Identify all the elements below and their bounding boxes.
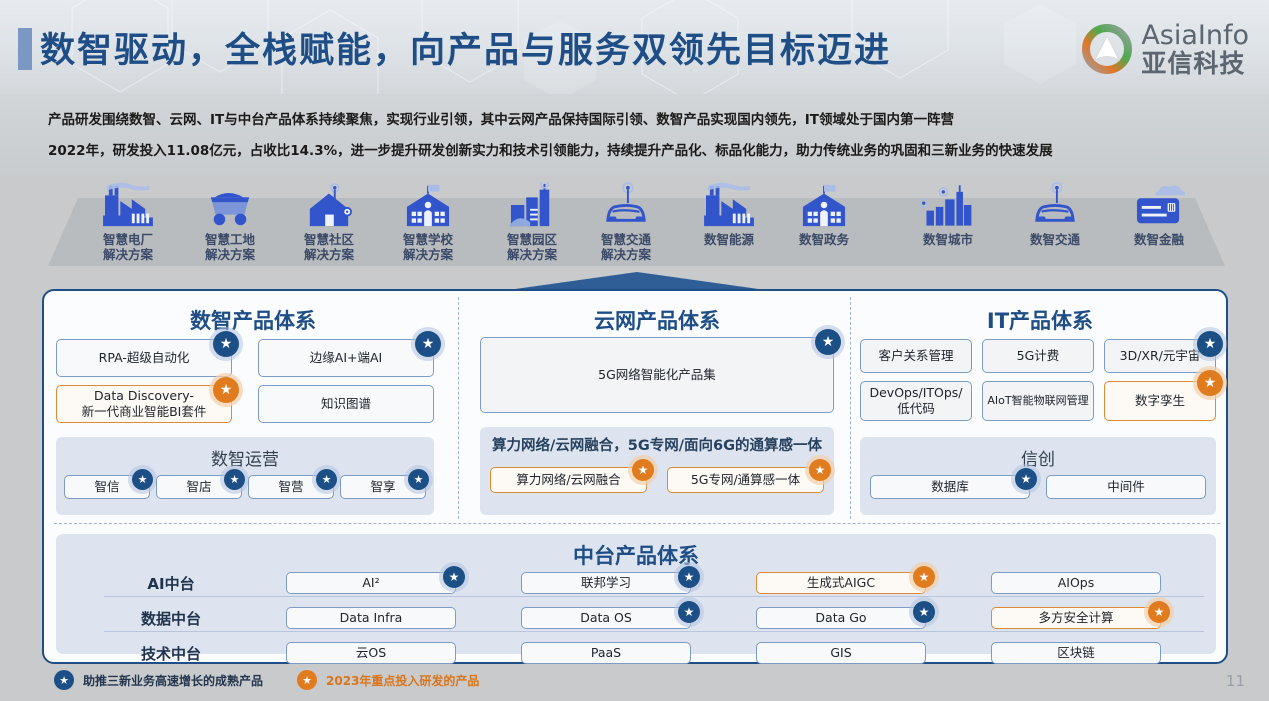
industry-item[interactable]: 数智交通 [1003,176,1107,247]
industry-label: 数智政务 [772,232,876,247]
row-label: 数据中台 [56,608,286,629]
industry-item[interactable]: 智慧园区解决方案 [480,176,584,263]
connected-car-icon [1003,176,1107,228]
product-label: DevOps/ITOps/ 低代码 [869,385,962,416]
industry-label: 智慧工地解决方案 [178,232,282,263]
cn-product-box[interactable]: 算力网络/云网融合 ★ [490,467,647,493]
connected-car-icon [574,176,678,228]
platform-product-box[interactable]: 多方安全计算 ★ [991,607,1161,629]
industry-label: 智慧交通解决方案 [574,232,678,263]
industry-item[interactable]: 智慧电厂解决方案 [76,176,180,263]
mature-product-star-icon[interactable]: ★ [213,331,239,357]
product-label: 知识图谱 [321,396,371,412]
product-label: RPA-超级自动化 [99,350,190,366]
slide-header: 数智驱动，全栈赋能，向产品与服务双领先目标迈进 AsiaInfo 亚信科技 [0,0,1269,94]
middle-platform-title: 中台产品体系 [56,540,1216,570]
school-icon [772,176,876,228]
rnd-focus-star-icon[interactable]: ★ [1197,370,1223,396]
row-separator [104,631,1204,632]
middle-platform-row: 数据中台 Data Infra Data OS ★ Data Go ★ 多方安全… [56,603,1216,633]
platform-product-label: GIS [830,645,851,661]
product-box[interactable]: 5G计费 [982,339,1094,373]
column-cloud-network: 云网产品体系 5G网络智能化产品集 ★ 算力网络/云网融合，5G专网/面向6G的… [462,291,852,523]
platform-product-label: Data Infra [340,610,403,626]
subpanel-title: 算力网络/云网融合，5G专网/面向6G的通算感一体 [480,434,834,455]
platform-product-label: 多方安全计算 [1038,610,1113,626]
cn-product-box[interactable]: 5G专网/通算感一体 ★ [667,467,824,493]
xc-product-box[interactable]: 数据库 ★ [870,475,1030,499]
mature-product-star-icon[interactable]: ★ [678,601,700,623]
product-box[interactable]: 5G网络智能化产品集 ★ [480,337,834,413]
mature-product-star-icon[interactable]: ★ [1197,331,1223,357]
mature-product-star-icon[interactable]: ★ [443,566,465,588]
industry-item[interactable]: 数智能源 [677,176,781,247]
cn-product-label: 5G专网/通算感一体 [691,472,800,488]
subtitle-block: 产品研发围绕数智、云网、IT与中台产品体系持续聚焦，实现行业引领，其中云网产品保… [0,94,1269,176]
product-label: AIoT智能物联网管理 [987,394,1088,408]
product-box[interactable]: 数字孪生 ★ [1104,381,1216,421]
platform-product-label: AI² [362,575,379,591]
product-label: 5G计费 [1017,348,1060,364]
platform-product-box[interactable]: PaaS [521,642,691,664]
middle-platform-row: 技术中台 云OS PaaS GIS 区块链 [56,638,1216,668]
legend: ★ 助推三新业务高速增长的成熟产品 ★ 2023年重点投入研发的产品 [54,670,479,690]
platform-product-label: 生成式AIGC [807,575,875,591]
product-box[interactable]: 知识图谱 [258,385,434,423]
column-title: 数智产品体系 [48,305,458,335]
product-label: Data Discovery- 新一代商业智能BI套件 [82,388,207,419]
subtitle-line-2: 2022年，研发投入11.08亿元，占收比14.3%，进一步提升研发创新实力和技… [48,139,1053,159]
mature-product-star-icon[interactable]: ★ [1015,468,1037,490]
school-icon [376,176,480,228]
product-box[interactable]: RPA-超级自动化 ★ [56,339,232,377]
industry-solutions-band: 智慧电厂解决方案 智慧工地解决方案 智慧社区解决方案 智慧学校解决方案 [0,176,1269,280]
product-label: 5G网络智能化产品集 [598,367,716,383]
industry-label: 数智城市 [896,232,1000,247]
platform-product-label: Data OS [580,610,632,626]
column-title: IT产品体系 [854,305,1226,335]
ops-product-label: 智信 [94,479,119,495]
ops-product-label: 智享 [370,479,395,495]
platform-product-box[interactable]: Data Infra [286,607,456,629]
product-columns: 数智产品体系 RPA-超级自动化 ★ 边缘AI+端AI ★ Data Disco… [44,291,1230,523]
factory-icon [76,176,180,228]
mature-product-star-icon[interactable]: ★ [408,469,429,490]
product-label: 3D/XR/元宇宙 [1120,348,1201,364]
industry-label: 智慧园区解决方案 [480,232,584,263]
logo-text-cn: 亚信科技 [1141,51,1249,76]
column-divider-left [458,297,459,519]
asiainfo-ring-icon [1081,23,1133,75]
operations-subpanel: 数智运营 智信 ★ 智店 ★ 智营 ★ [56,437,434,515]
product-box[interactable]: 边缘AI+端AI ★ [258,339,434,377]
product-label: 边缘AI+端AI [310,350,382,366]
platform-product-label: 联邦学习 [581,575,631,591]
platform-product-box[interactable]: Data OS ★ [521,607,691,629]
ops-product-box[interactable]: 智信 ★ [64,475,150,499]
cityscape-icon [896,176,1000,228]
platform-product-box[interactable]: 区块链 [991,642,1161,664]
product-system-card: 数智产品体系 RPA-超级自动化 ★ 边缘AI+端AI ★ Data Disco… [42,289,1228,664]
industry-label: 智慧社区解决方案 [277,232,381,263]
mature-product-star-icon[interactable]: ★ [815,329,841,355]
mature-product-star-icon[interactable]: ★ [913,601,935,623]
subtitle-line-1: 产品研发围绕数智、云网、IT与中台产品体系持续聚焦，实现行业引领，其中云网产品保… [48,108,954,128]
industrial-park-icon [480,176,584,228]
column-digital-intelligence: 数智产品体系 RPA-超级自动化 ★ 边缘AI+端AI ★ Data Disco… [48,291,458,523]
mature-product-star-icon[interactable]: ★ [678,566,700,588]
mature-product-star-icon[interactable]: ★ [224,469,245,490]
platform-product-box[interactable]: GIS [756,642,926,664]
industry-icon-row: 智慧电厂解决方案 智慧工地解决方案 智慧社区解决方案 智慧学校解决方案 [0,176,1269,280]
legend-label: 助推三新业务高速增长的成熟产品 [83,672,263,689]
rnd-focus-star-icon[interactable]: ★ [213,377,239,403]
column-it: IT产品体系 客户关系管理 5G计费 3D/XR/元宇宙 ★ DevOps/IT… [854,291,1226,523]
ops-product-box[interactable]: 智享 ★ [340,475,426,499]
industry-item[interactable]: 数智城市 [896,176,1000,247]
platform-product-label: 区块链 [1057,645,1095,661]
industry-label: 数智交通 [1003,232,1107,247]
middle-platform-panel: 中台产品体系 AI中台 AI² ★ 联邦学习 ★ 生成式AIGC ★ AIOps… [56,534,1216,654]
slide-root: 数智驱动，全栈赋能，向产品与服务双领先目标迈进 AsiaInfo 亚信科技 [0,0,1269,701]
xinchuang-subpanel: 信创 数据库 ★ 中间件 [860,437,1216,515]
industry-label: 智慧电厂解决方案 [76,232,180,263]
platform-product-box[interactable]: AI² ★ [286,572,456,594]
platform-product-label: PaaS [591,645,621,661]
credit-card-icon [1107,176,1211,228]
industry-label: 智慧学校解决方案 [376,232,480,263]
platform-product-box[interactable]: AIOps [991,572,1161,594]
ops-product-box[interactable]: 智店 ★ [156,475,242,499]
product-box[interactable]: 客户关系管理 [860,339,972,373]
section-divider [54,523,1220,524]
middle-platform-row: AI中台 AI² ★ 联邦学习 ★ 生成式AIGC ★ AIOps [56,568,1216,598]
row-separator [104,596,1204,597]
house-iot-icon [277,176,381,228]
xc-product-label: 中间件 [1107,479,1145,495]
row-label: AI中台 [56,573,286,594]
page-title: 数智驱动，全栈赋能，向产品与服务双领先目标迈进 [40,22,891,73]
subpanel-title: 信创 [860,445,1216,470]
page-number: 11 [1226,672,1245,690]
brand-logo: AsiaInfo 亚信科技 [1081,22,1249,76]
mature-product-star-icon[interactable]: ★ [316,469,337,490]
mature-product-star-icon: ★ [54,670,74,690]
cn-product-label: 算力网络/云网融合 [516,472,620,488]
product-label: 客户关系管理 [878,348,953,364]
platform-product-box[interactable]: 生成式AIGC ★ [756,572,926,594]
product-box[interactable]: DevOps/ITOps/ 低代码 [860,381,972,421]
industry-item[interactable]: 智慧社区解决方案 [277,176,381,263]
legend-label: 2023年重点投入研发的产品 [326,672,479,689]
row-label: 技术中台 [56,643,286,664]
industry-label: 数智金融 [1107,232,1211,247]
platform-product-label: AIOps [1058,575,1095,591]
rnd-focus-star-icon[interactable]: ★ [632,459,654,481]
product-box[interactable]: Data Discovery- 新一代商业智能BI套件 ★ [56,385,232,423]
platform-product-box[interactable]: 云OS [286,642,456,664]
product-box[interactable]: AIoT智能物联网管理 [982,381,1094,421]
legend-item-mature: ★ 助推三新业务高速增长的成熟产品 [54,670,263,690]
factory-icon [677,176,781,228]
ops-product-box[interactable]: 智营 ★ [248,475,334,499]
mature-product-star-icon[interactable]: ★ [132,469,153,490]
xc-product-box[interactable]: 中间件 [1046,475,1206,499]
rnd-focus-star-icon[interactable]: ★ [1148,601,1170,623]
industry-item[interactable]: 智慧学校解决方案 [376,176,480,263]
product-box[interactable]: 3D/XR/元宇宙 ★ [1104,339,1216,373]
industry-item[interactable]: 数智金融 [1107,176,1211,247]
ops-product-label: 智店 [186,479,211,495]
platform-product-label: 云OS [356,645,386,661]
ops-product-label: 智营 [278,479,303,495]
rnd-focus-star-icon: ★ [297,670,317,690]
platform-product-box[interactable]: 联邦学习 ★ [521,572,691,594]
column-title: 云网产品体系 [462,305,852,335]
platform-product-box[interactable]: Data Go ★ [756,607,926,629]
logo-text-en: AsiaInfo [1141,22,1249,49]
industry-item[interactable]: 智慧工地解决方案 [178,176,282,263]
industry-item[interactable]: 智慧交通解决方案 [574,176,678,263]
mine-cart-icon [178,176,282,228]
industry-item[interactable]: 数智政务 [772,176,876,247]
rnd-focus-star-icon[interactable]: ★ [809,459,831,481]
platform-product-label: Data Go [815,610,866,626]
title-accent-bar [18,28,32,70]
mature-product-star-icon[interactable]: ★ [415,331,441,357]
subpanel-title: 数智运营 [56,445,434,470]
legend-item-rnd-focus: ★ 2023年重点投入研发的产品 [297,670,479,690]
industry-label: 数智能源 [677,232,781,247]
compute-network-subpanel: 算力网络/云网融合，5G专网/面向6G的通算感一体 算力网络/云网融合 ★ 5G… [480,427,834,515]
xc-product-label: 数据库 [931,479,969,495]
rnd-focus-star-icon[interactable]: ★ [913,566,935,588]
product-label: 数字孪生 [1135,393,1185,409]
